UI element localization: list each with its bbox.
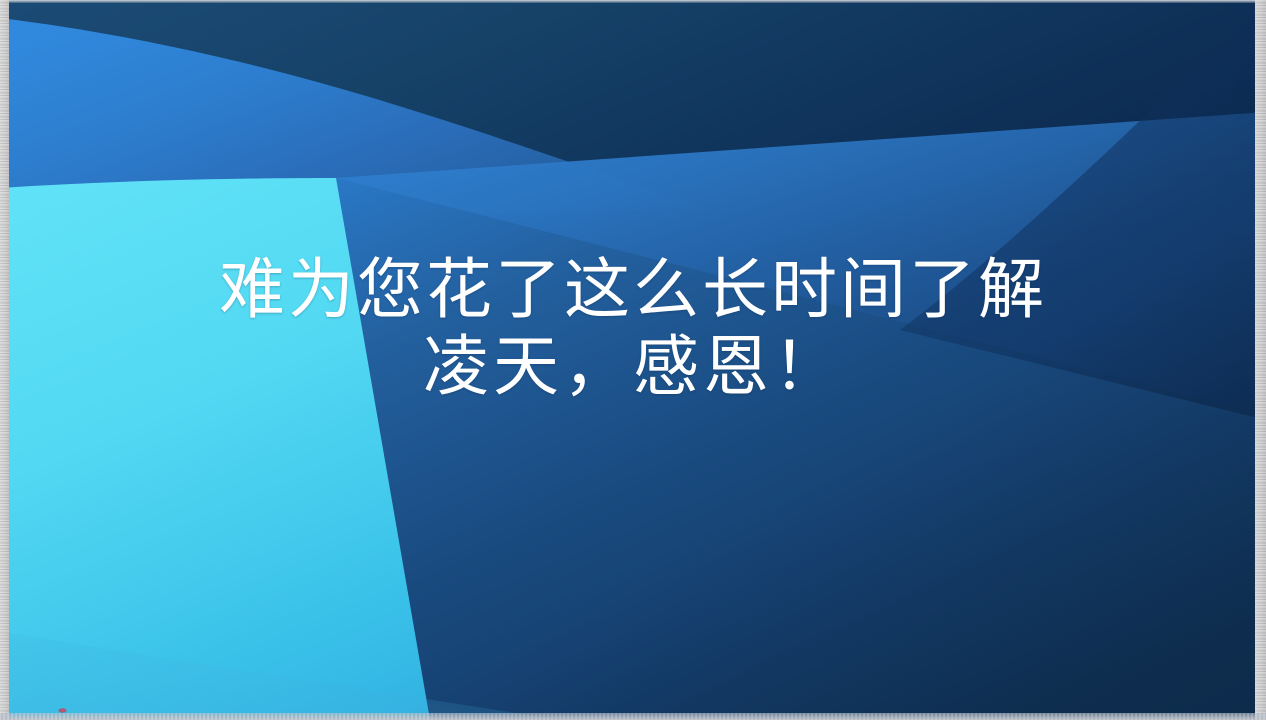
slide-title-line-2: 凌天，感恩！ [42,329,1224,406]
top-edge-scanline-artifact [0,0,1266,3]
bottom-edge-scanline-artifact [0,713,1266,720]
slide-title-block: 难为您花了这么长时间了解 凌天，感恩！ [0,252,1266,405]
slide-title-line-1: 难为您花了这么长时间了解 [42,252,1224,329]
left-edge-scanline-artifact [0,0,9,720]
right-edge-scanline-artifact [1255,0,1266,720]
presentation-slide: 难为您花了这么长时间了解 凌天，感恩！ [0,0,1266,720]
red-pixel-speck-artifact [58,708,67,713]
